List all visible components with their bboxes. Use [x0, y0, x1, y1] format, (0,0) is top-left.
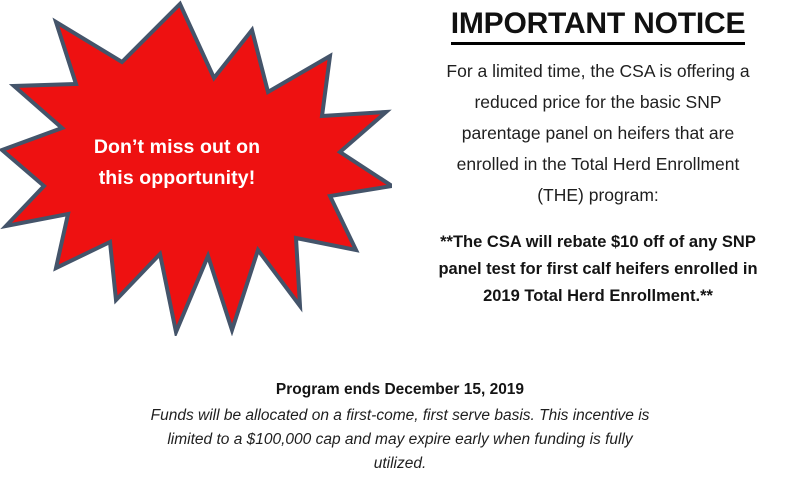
starburst-graphic: Don’t miss out on this opportunity! — [0, 0, 392, 336]
program-end-date: Program ends December 15, 2019 — [0, 378, 800, 402]
body-line-1: For a limited time, the CSA is offering … — [404, 56, 792, 87]
footer-terms: Funds will be allocated on a first-come,… — [0, 402, 800, 476]
body-line-4: enrolled in the Total Herd Enrollment — [404, 149, 792, 180]
notice-title-text: IMPORTANT NOTICE — [451, 7, 746, 45]
rebate-line-2: panel test for first calf heifers enroll… — [402, 256, 794, 283]
terms-line-2: limited to a $100,000 cap and may expire… — [0, 428, 800, 452]
terms-line-3: utilized. — [0, 452, 800, 476]
body-line-5: (THE) program: — [404, 180, 792, 211]
starburst-text: Don’t miss out on this opportunity! — [52, 132, 302, 194]
rebate-line-3: 2019 Total Herd Enrollment.** — [402, 283, 794, 310]
notice-footer: Program ends December 15, 2019 Funds wil… — [0, 378, 800, 476]
rebate-line-1: **The CSA will rebate $10 off of any SNP — [402, 229, 794, 256]
starburst-line-2: this opportunity! — [52, 163, 302, 194]
notice-title: IMPORTANT NOTICE — [396, 0, 800, 42]
rebate-statement: **The CSA will rebate $10 off of any SNP… — [396, 211, 800, 310]
notice-body: For a limited time, the CSA is offering … — [396, 42, 800, 211]
starburst-line-1: Don’t miss out on — [52, 132, 302, 163]
notice-column: IMPORTANT NOTICE For a limited time, the… — [396, 0, 800, 310]
terms-line-1: Funds will be allocated on a first-come,… — [0, 404, 800, 428]
notice-page: Don’t miss out on this opportunity! IMPO… — [0, 0, 800, 488]
body-line-3: parentage panel on heifers that are — [404, 118, 792, 149]
body-line-2: reduced price for the basic SNP — [404, 87, 792, 118]
